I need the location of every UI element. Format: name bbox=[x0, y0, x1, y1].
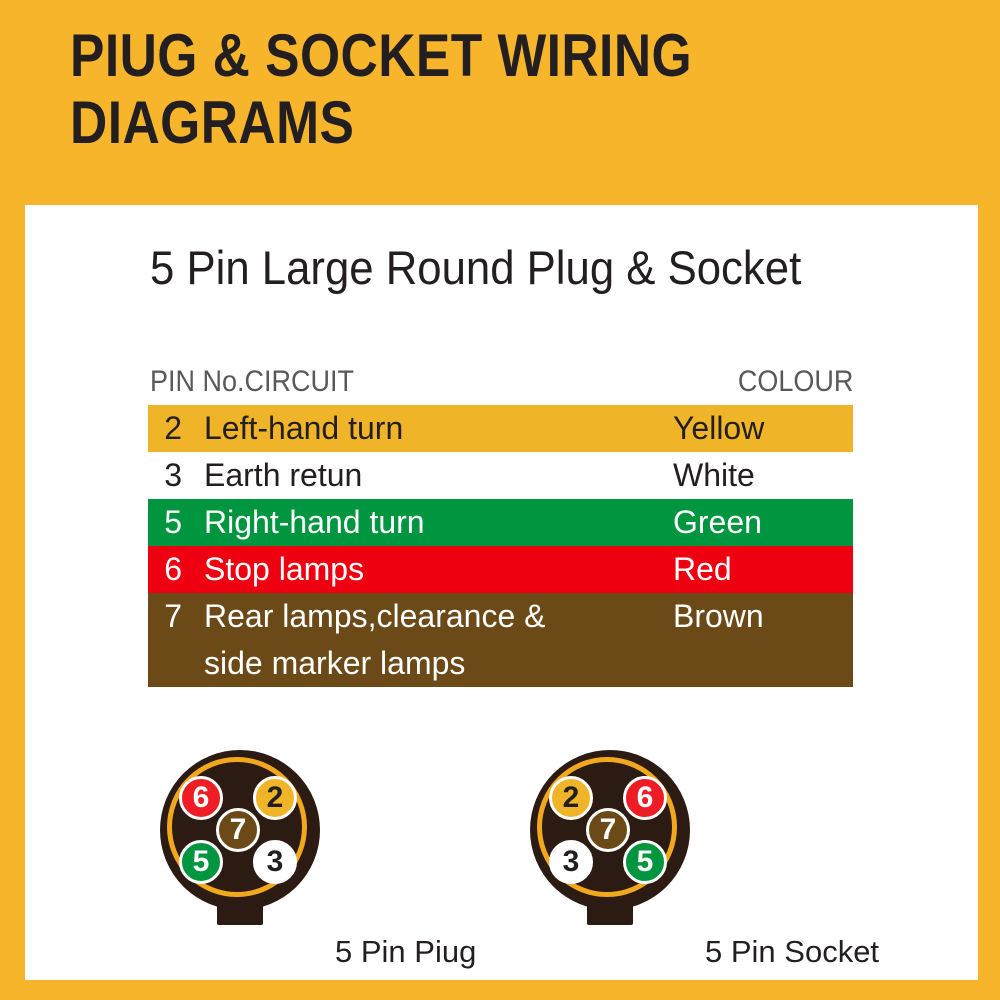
table-header-row: PIN No.CIRCUIT COLOUR bbox=[148, 365, 853, 405]
plug-caption: 5 Pin Piug bbox=[130, 934, 530, 970]
table-cell-pin: 3 bbox=[148, 452, 194, 499]
table-cell-pin: 6 bbox=[148, 546, 194, 593]
table-cell-colour: Brown bbox=[667, 593, 853, 640]
plug-body: 62753 bbox=[160, 750, 320, 910]
pin-7: 7 bbox=[586, 808, 630, 852]
table-cell-colour: Green bbox=[667, 499, 853, 546]
table-cell-colour: Yellow bbox=[667, 405, 853, 452]
table-row: 5Right-hand turnGreen bbox=[148, 499, 853, 546]
table-cell-pin: 2 bbox=[148, 405, 194, 452]
content-panel: 5 Pin Large Round Plug & Socket PIN No.C… bbox=[25, 205, 978, 980]
table-row: 6Stop lampsRed bbox=[148, 546, 853, 593]
pin-3: 3 bbox=[253, 840, 297, 884]
table-cell-circuit: Left-hand turn bbox=[194, 405, 667, 452]
pin-7: 7 bbox=[216, 808, 260, 852]
pin-5: 5 bbox=[623, 840, 667, 884]
pin-6: 6 bbox=[623, 776, 667, 820]
table-row: 7Rear lamps,clearance & side marker lamp… bbox=[148, 593, 853, 687]
table-cell-circuit: Rear lamps,clearance & side marker lamps bbox=[194, 593, 667, 687]
pin-6: 6 bbox=[179, 776, 223, 820]
table-cell-colour: Red bbox=[667, 546, 853, 593]
table-cell-circuit: Earth retun bbox=[194, 452, 667, 499]
socket-diagram: 26735 5 Pin Socket bbox=[500, 750, 900, 980]
wiring-table: PIN No.CIRCUIT COLOUR 2Left-hand turnYel… bbox=[148, 365, 853, 687]
table-cell-pin: 5 bbox=[148, 499, 194, 546]
table-header-pin-circuit: PIN No.CIRCUIT bbox=[150, 365, 354, 399]
plug-diagram: 62753 5 Pin Piug bbox=[130, 750, 530, 980]
table-row: 2Left-hand turnYellow bbox=[148, 405, 853, 452]
page-title: PIUG & SOCKET WIRING DIAGRAMS bbox=[70, 22, 827, 156]
table-body: 2Left-hand turnYellow3Earth retunWhite5R… bbox=[148, 405, 853, 687]
pin-2: 2 bbox=[253, 776, 297, 820]
table-cell-pin: 7 bbox=[148, 593, 194, 640]
plug-connector-graphic: 62753 bbox=[160, 750, 320, 930]
socket-body: 26735 bbox=[530, 750, 690, 910]
table-cell-circuit: Stop lamps bbox=[194, 546, 667, 593]
connector-diagrams: 62753 5 Pin Piug 26735 5 Pin Socket bbox=[25, 750, 978, 980]
table-header-colour: COLOUR bbox=[737, 365, 853, 399]
table-cell-circuit: Right-hand turn bbox=[194, 499, 667, 546]
socket-connector-graphic: 26735 bbox=[530, 750, 690, 930]
table-row: 3Earth retunWhite bbox=[148, 452, 853, 499]
pin-3: 3 bbox=[549, 840, 593, 884]
header-banner: PIUG & SOCKET WIRING DIAGRAMS bbox=[0, 0, 1000, 205]
table-cell-colour: White bbox=[667, 452, 853, 499]
pin-5: 5 bbox=[179, 840, 223, 884]
diagram-subtitle: 5 Pin Large Round Plug & Socket bbox=[150, 240, 801, 295]
socket-caption: 5 Pin Socket bbox=[500, 934, 900, 970]
pin-2: 2 bbox=[549, 776, 593, 820]
